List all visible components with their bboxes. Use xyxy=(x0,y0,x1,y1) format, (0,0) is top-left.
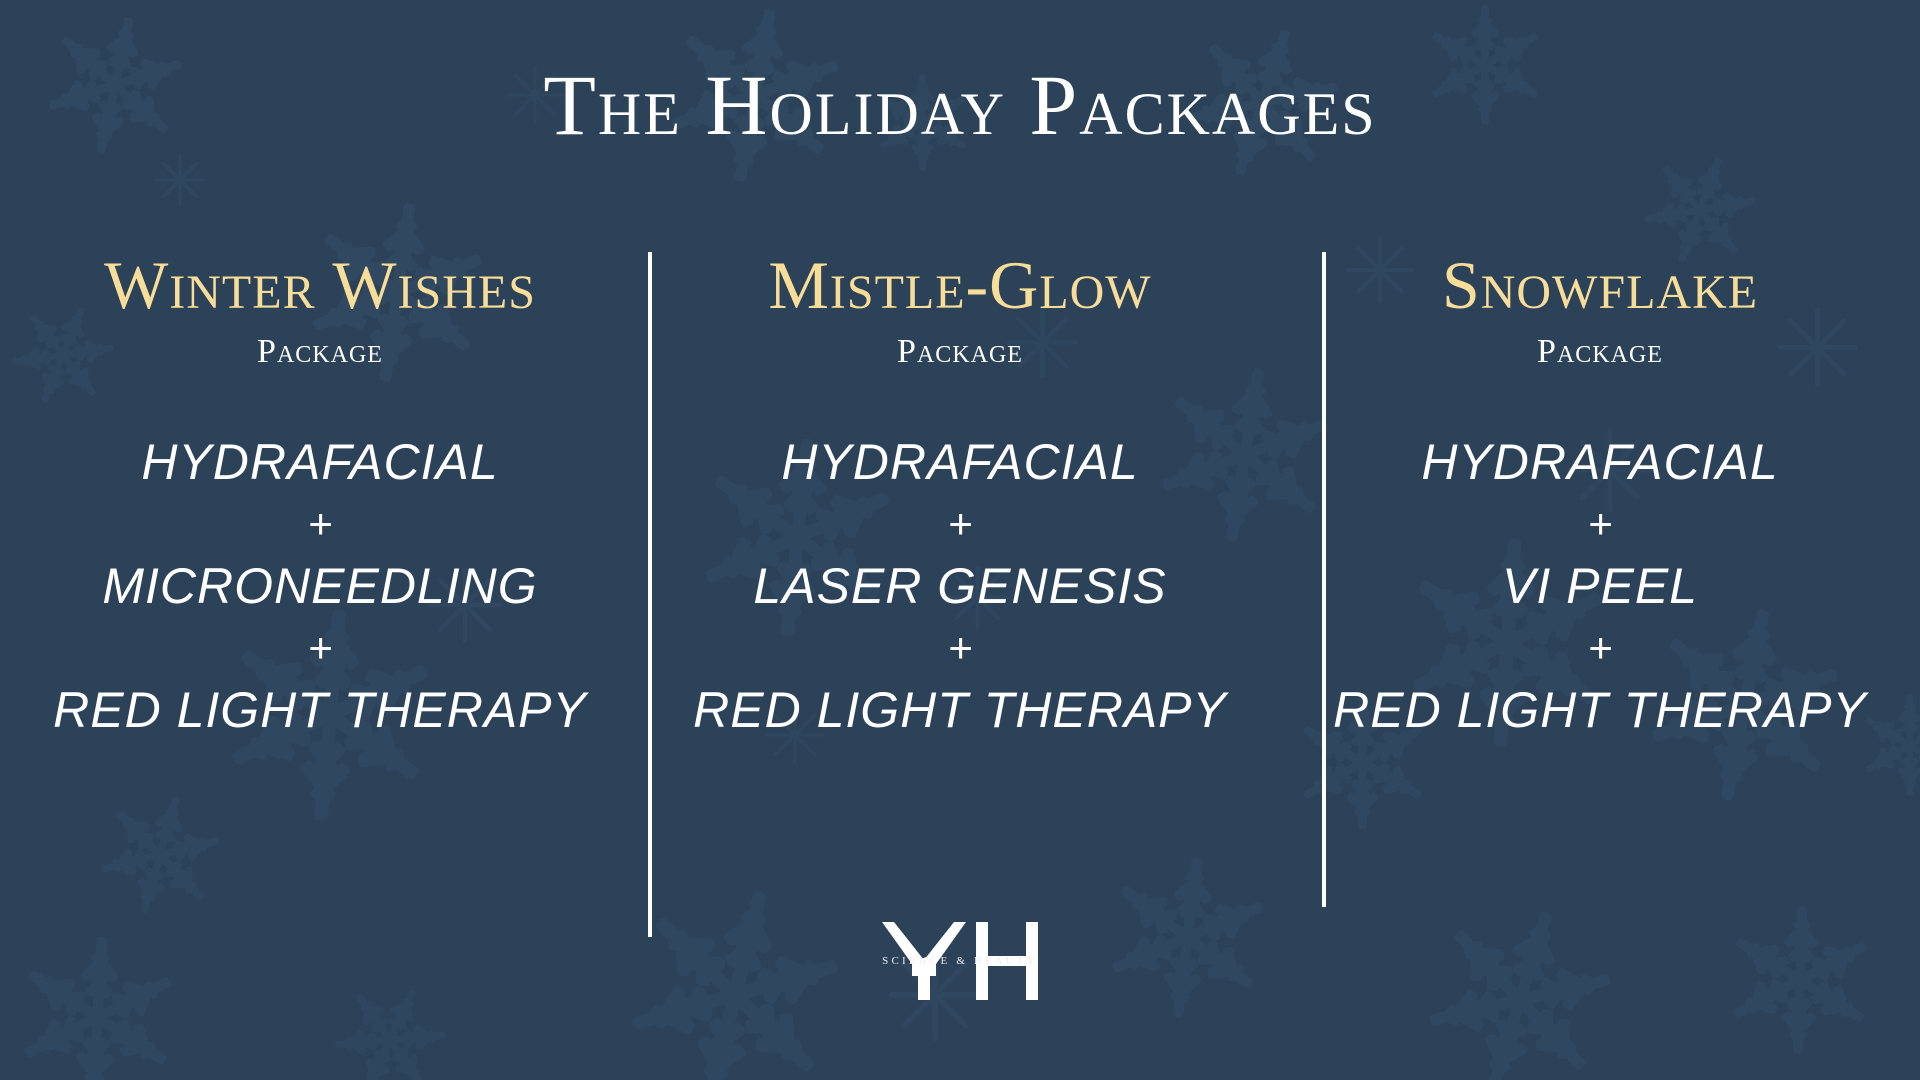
treatment-item: HYDRAFACIAL xyxy=(658,431,1262,494)
holiday-packages-poster: The Holiday Packages Winter Wishes Packa… xyxy=(0,0,1920,1080)
package-name: Winter Wishes xyxy=(18,250,622,321)
treatment-item: VI PEEL xyxy=(1298,555,1902,618)
treatment-item: HYDRAFACIAL xyxy=(1298,431,1902,494)
package-name: Snowflake xyxy=(1298,250,1902,321)
package-subtitle: Package xyxy=(18,335,622,369)
plus-separator-icon: + xyxy=(18,494,622,555)
package-card-mistle-glow: Mistle-Glow Package HYDRAFACIAL + LASER … xyxy=(640,250,1280,742)
treatment-item: LASER GENESIS xyxy=(658,555,1262,618)
treatment-item: RED LIGHT THERAPY xyxy=(18,679,622,742)
package-subtitle: Package xyxy=(658,335,1262,369)
package-card-winter-wishes: Winter Wishes Package HYDRAFACIAL + MICR… xyxy=(0,250,640,742)
treatment-list: HYDRAFACIAL + MICRONEEDLING + RED LIGHT … xyxy=(18,431,622,742)
package-subtitle: Package xyxy=(1298,335,1902,369)
plus-separator-icon: + xyxy=(1298,494,1902,555)
logo-tagline: SCIENCE & BEAUTY xyxy=(870,956,1050,967)
treatment-list: HYDRAFACIAL + VI PEEL + RED LIGHT THERAP… xyxy=(1298,431,1902,742)
treatment-item: RED LIGHT THERAPY xyxy=(1298,679,1902,742)
column-divider xyxy=(648,252,652,937)
plus-separator-icon: + xyxy=(1298,618,1902,679)
plus-separator-icon: + xyxy=(658,618,1262,679)
brand-logo: SCIENCE & BEAUTY xyxy=(870,918,1050,1004)
treatment-item: MICRONEEDLING xyxy=(18,555,622,618)
treatment-list: HYDRAFACIAL + LASER GENESIS + RED LIGHT … xyxy=(658,431,1262,742)
poster-content: The Holiday Packages Winter Wishes Packa… xyxy=(0,0,1920,1080)
package-name: Mistle-Glow xyxy=(658,250,1262,321)
packages-row: Winter Wishes Package HYDRAFACIAL + MICR… xyxy=(0,250,1920,742)
column-divider xyxy=(1322,252,1326,907)
page-title: The Holiday Packages xyxy=(0,62,1920,148)
treatment-item: RED LIGHT THERAPY xyxy=(658,679,1262,742)
package-card-snowflake: Snowflake Package HYDRAFACIAL + VI PEEL … xyxy=(1280,250,1920,742)
treatment-item: HYDRAFACIAL xyxy=(18,431,622,494)
plus-separator-icon: + xyxy=(658,494,1262,555)
plus-separator-icon: + xyxy=(18,618,622,679)
